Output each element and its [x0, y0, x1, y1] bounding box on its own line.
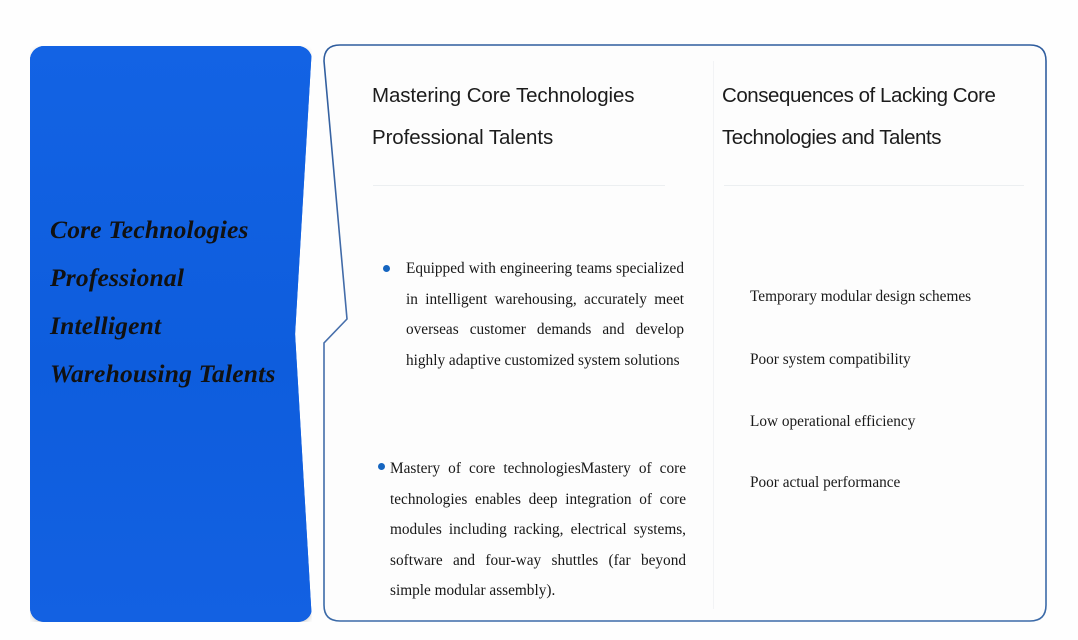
column-heading-line-2: Technologies and Talents	[722, 117, 995, 159]
left-panel-title: Core Technologies Professional Intellige…	[50, 206, 290, 398]
bullet-list-item: Equipped with engineering teams speciali…	[406, 254, 684, 376]
heading-divider	[373, 185, 665, 186]
card-content: Mastering Core Technologies Professional…	[322, 43, 1048, 623]
column-heading-line-2: Professional Talents	[372, 117, 634, 159]
slide-canvas: Core Technologies Professional Intellige…	[0, 0, 1078, 640]
bullet-marker-icon	[378, 463, 385, 470]
heading-divider	[724, 185, 1024, 186]
bullet-marker-icon	[383, 265, 390, 272]
list-item: Low operational efficiency	[750, 411, 915, 433]
bullet-list-item: Mastery of core technologiesMastery of c…	[390, 454, 686, 607]
list-item: Poor actual performance	[750, 472, 900, 494]
column-heading-line-1: Mastering Core Technologies	[372, 75, 634, 117]
column-heading-line-1: Consequences of Lacking Core	[722, 75, 995, 117]
column-separator	[713, 61, 714, 609]
column-heading: Consequences of Lacking Core Technologie…	[722, 75, 995, 159]
list-item: Temporary modular design schemes	[750, 286, 971, 308]
column-heading: Mastering Core Technologies Professional…	[372, 75, 634, 159]
list-item: Poor system compatibility	[750, 349, 911, 371]
